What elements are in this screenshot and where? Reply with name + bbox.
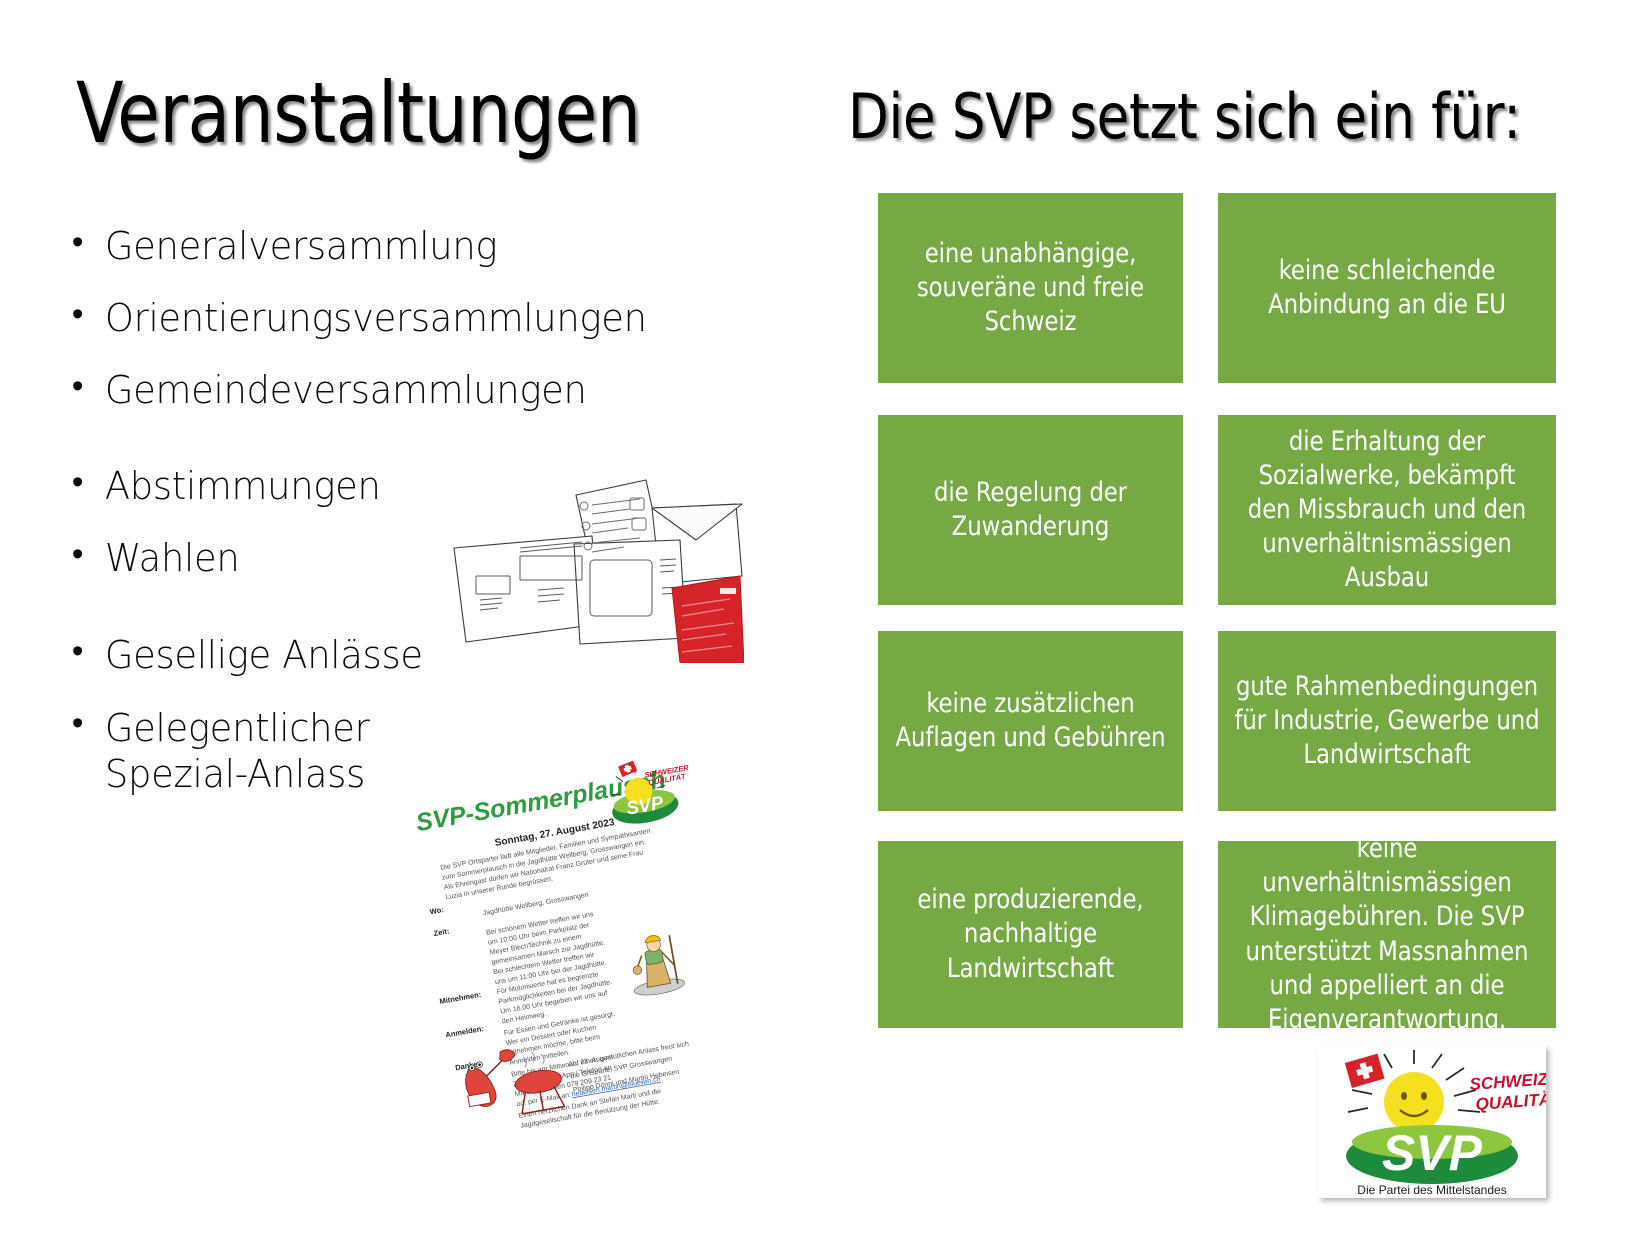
position-box-1: eine unabhängige, souveräne und freie Sc… xyxy=(878,193,1183,383)
position-box-5: keine zusätzlichen Auflagen und Gebühren xyxy=(878,631,1183,811)
list-item: Generalversammlung xyxy=(68,224,689,269)
position-box-2-text: keine schleichende Anbindung an die EU xyxy=(1234,254,1540,322)
svp-logo-svg: SVP SCHWEIZER QUALITÄT Die Partei des Mi… xyxy=(1318,1046,1546,1198)
position-box-4-text: die Erhaltung der Sozialwerke, bekämpft … xyxy=(1234,425,1540,595)
position-box-6: gute Rahmenbedingungen für Industrie, Ge… xyxy=(1218,631,1556,811)
position-box-7: eine produzierende, nachhaltige Landwirt… xyxy=(878,841,1183,1028)
position-box-8-text: keine unverhältnismässigen Klimagebühren… xyxy=(1234,832,1540,1036)
svp-logo-tagline: Die Partei des Mittelstandes xyxy=(1357,1183,1506,1197)
position-box-1-text: eine unabhängige, souveräne und freie Sc… xyxy=(893,237,1168,339)
list-item: Orientierungsversammlungen xyxy=(68,296,689,341)
svp-logo: SVP SCHWEIZER QUALITÄT Die Partei des Mi… xyxy=(1318,1046,1546,1198)
voting-documents-svg xyxy=(424,448,744,663)
section-title-svp-einsatz: Die SVP setzt sich ein für: xyxy=(848,80,1521,153)
position-box-4: die Erhaltung der Sozialwerke, bekämpft … xyxy=(1218,415,1556,605)
voting-documents-illustration xyxy=(424,448,744,663)
list-item: Gelegentlicher Spezial-Anlass xyxy=(68,705,396,798)
position-box-3: die Regelung der Zuwanderung xyxy=(878,415,1183,605)
position-box-8: keine unverhältnismässigen Klimagebühren… xyxy=(1218,841,1556,1028)
sommerplausch-flyer-image: SVP-Sommerplausch SVP SCHWEIZER QUA xyxy=(396,736,726,1136)
page-title-veranstaltungen: Veranstaltungen xyxy=(76,64,640,162)
position-box-5-text: keine zusätzlichen Auflagen und Gebühren xyxy=(893,687,1168,755)
sun-face-icon xyxy=(1384,1072,1444,1132)
position-box-6-text: gute Rahmenbedingungen für Industrie, Ge… xyxy=(1234,670,1540,772)
position-box-2: keine schleichende Anbindung an die EU xyxy=(1218,193,1556,383)
position-box-3-text: die Regelung der Zuwanderung xyxy=(893,476,1168,544)
list-item: Gemeindeversammlungen xyxy=(68,368,689,413)
position-box-7-text: eine produzierende, nachhaltige Landwirt… xyxy=(893,883,1168,985)
flyer-svg: SVP-Sommerplausch SVP SCHWEIZER QUA xyxy=(396,736,726,1136)
svp-logo-wordmark: SVP xyxy=(1382,1125,1483,1181)
svp-positions-grid: eine unabhängige, souveräne und freie Sc… xyxy=(878,193,1556,1028)
